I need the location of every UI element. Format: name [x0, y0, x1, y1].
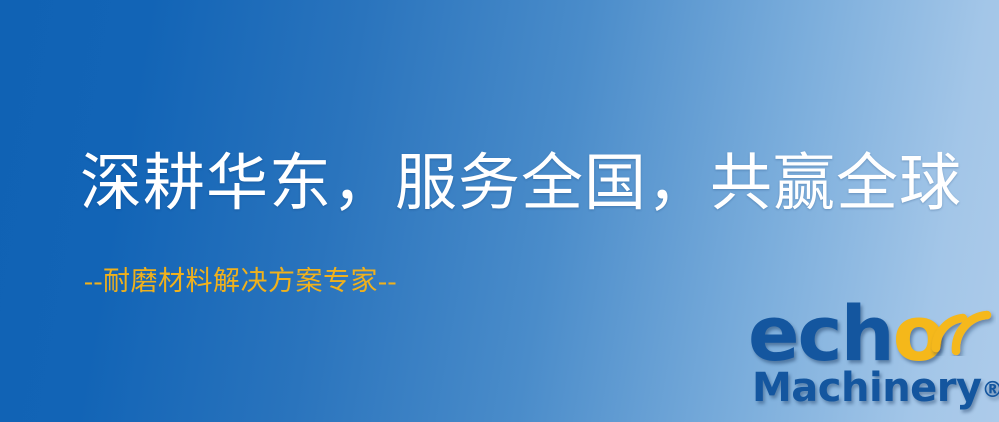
registered-trademark-icon: ® — [982, 378, 999, 403]
page-title: 深耕华东，服务全国，共赢全球 — [80, 153, 962, 215]
logo-tagline-text: Machinery — [752, 365, 982, 411]
logo-tagline: Machinery® — [752, 368, 999, 408]
signal-wave-icon — [930, 294, 996, 356]
promo-banner: 深耕华东，服务全国，共赢全球 --耐磨材料解决方案专家-- echo Machi… — [0, 0, 999, 422]
logo-wordmark: echo — [748, 296, 943, 372]
brand-logo[interactable]: echo Machinery® — [748, 296, 999, 422]
page-subtitle: --耐磨材料解决方案专家-- — [84, 268, 397, 295]
